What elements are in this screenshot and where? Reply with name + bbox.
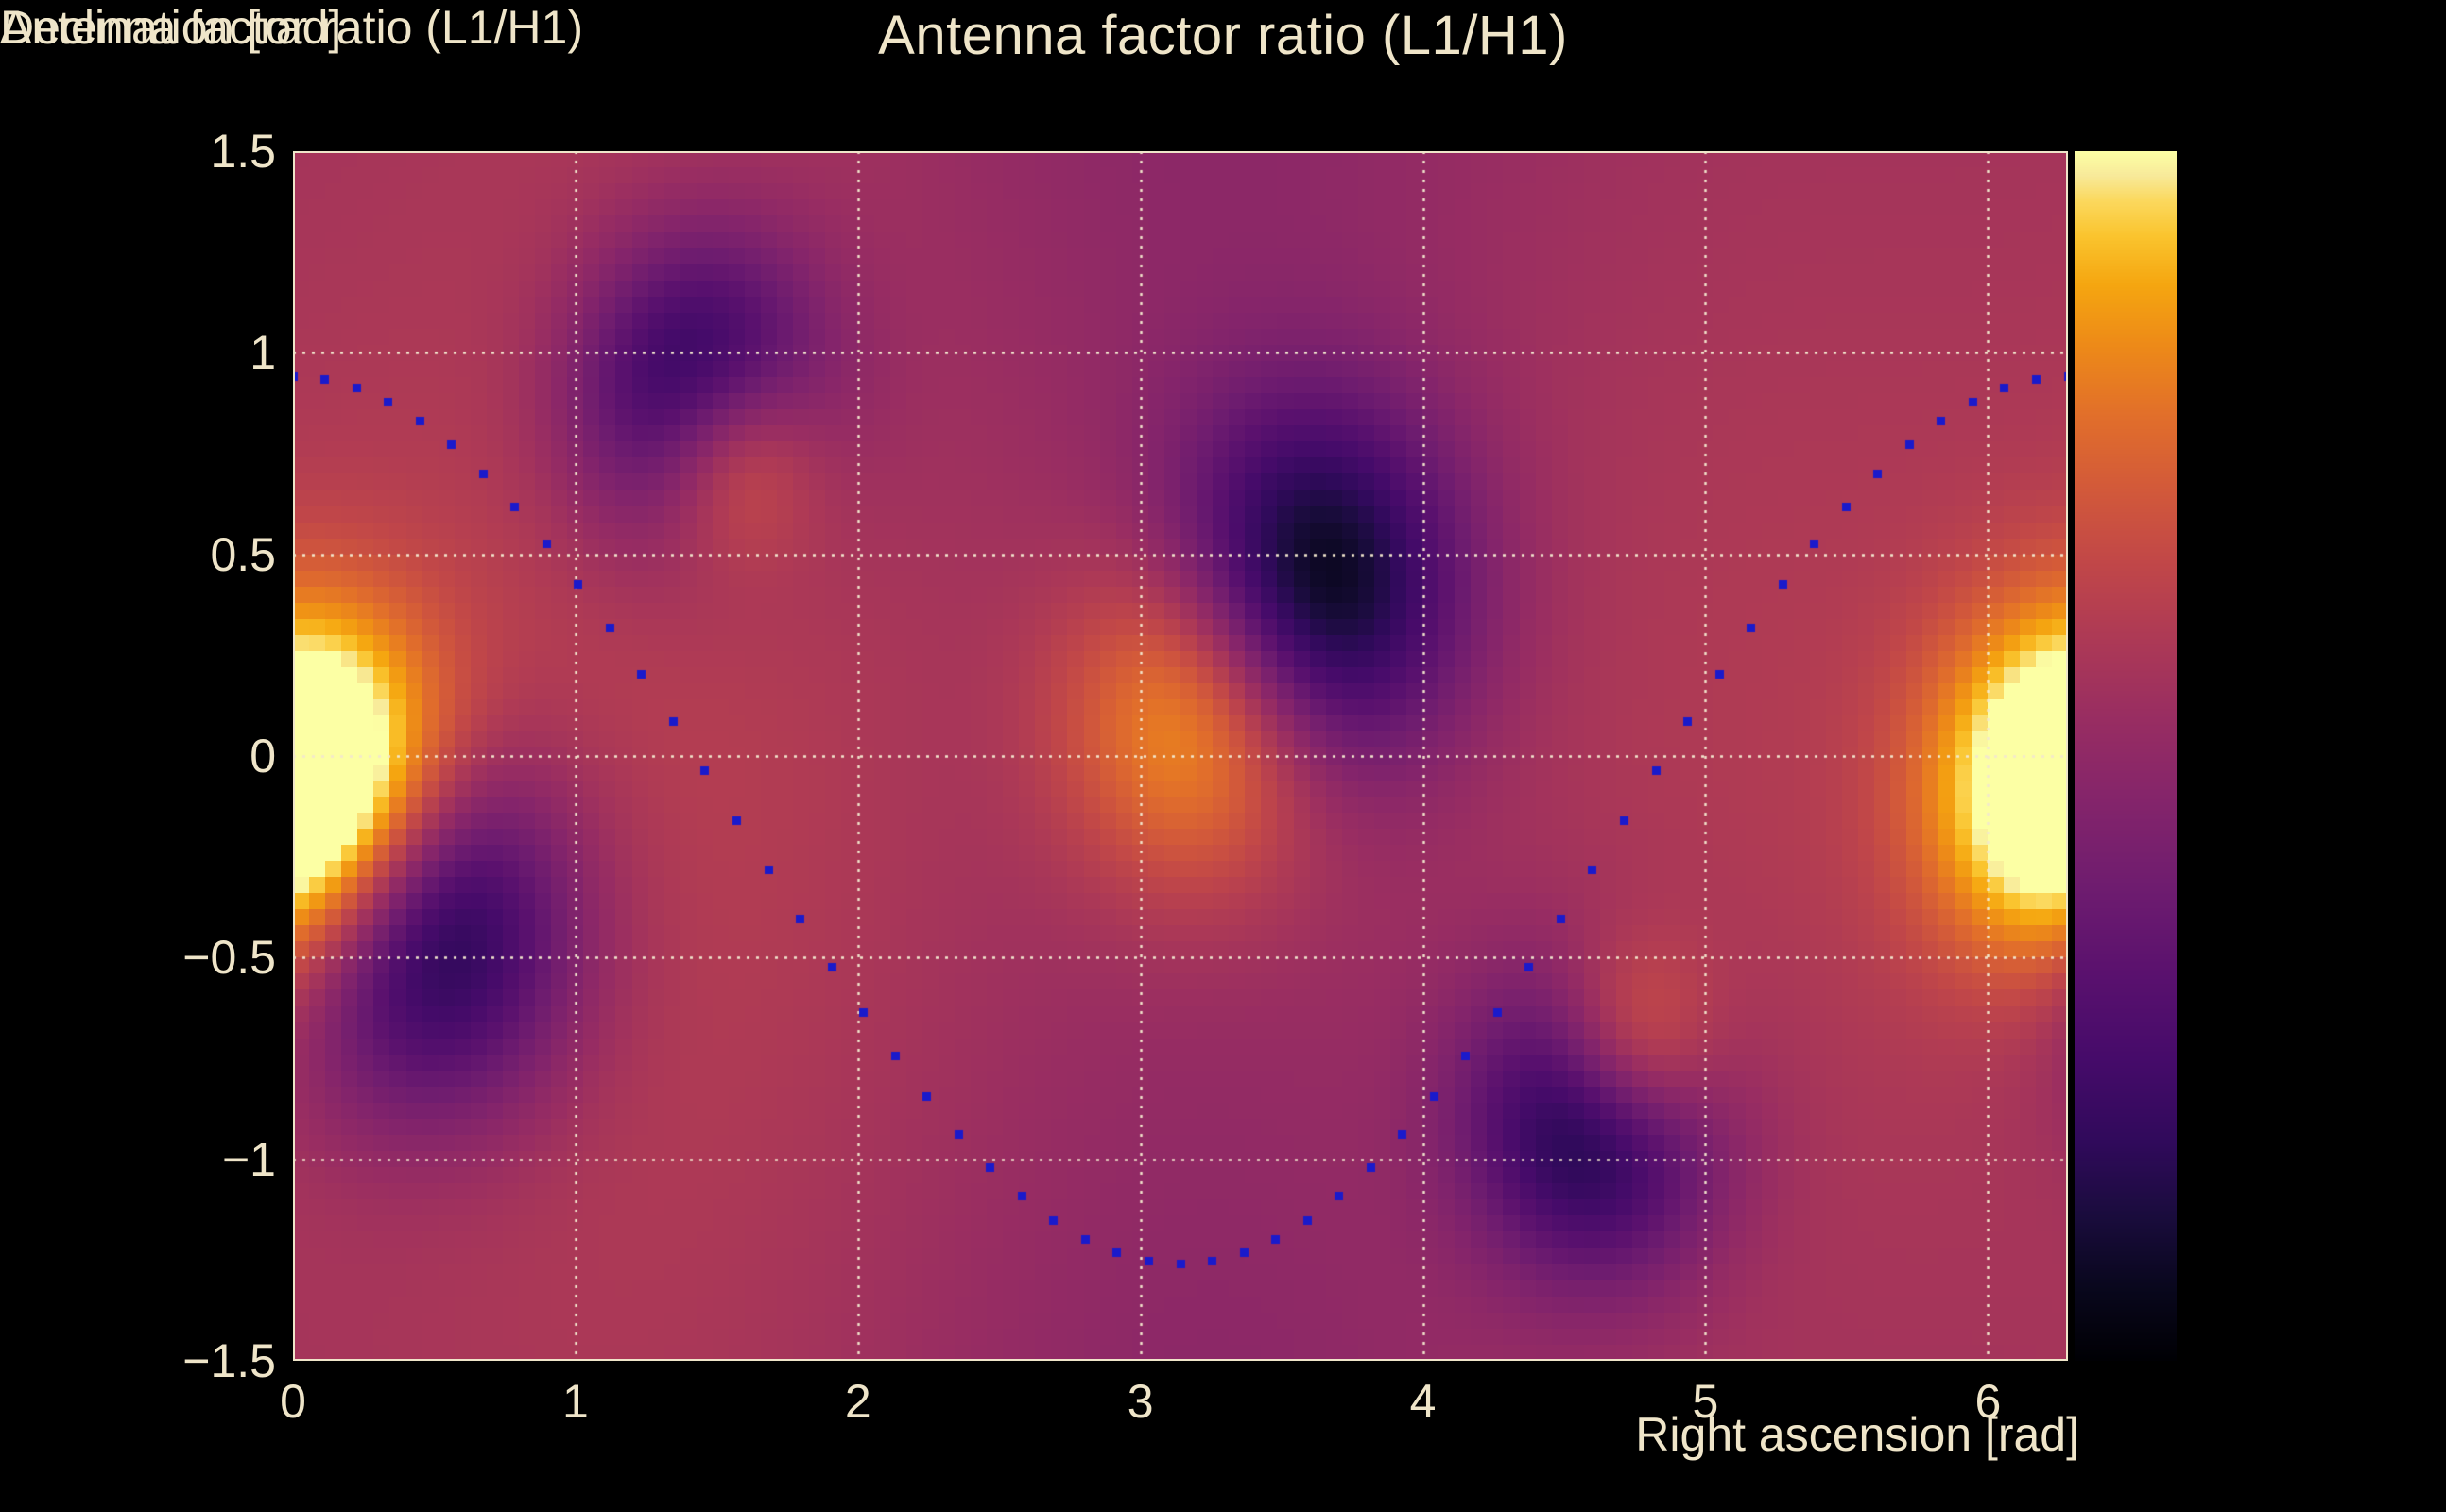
x-tick-label: 1 xyxy=(562,1374,589,1429)
y-tick-label: −1.5 xyxy=(182,1333,276,1388)
figure-canvas: Antenna factor ratio (L1/H1) 0123456 −1.… xyxy=(0,0,2446,1512)
y-tick-label: 0 xyxy=(250,729,276,783)
x-tick-label: 2 xyxy=(845,1374,871,1429)
x-tick-label: 3 xyxy=(1128,1374,1154,1429)
x-tick-label: 0 xyxy=(280,1374,306,1429)
y-tick-label: 0.5 xyxy=(210,527,276,582)
y-tick-label: −1 xyxy=(222,1132,276,1187)
y-tick-label: −0.5 xyxy=(182,930,276,985)
y-tick-label: 1.5 xyxy=(210,124,276,179)
colorbar-title: Antenna factor ratio (L1/H1) xyxy=(0,0,583,55)
heatmap-plot-area xyxy=(293,151,2068,1361)
x-axis-title: Right ascension [rad] xyxy=(1635,1407,2079,1462)
x-tick-label: 4 xyxy=(1410,1374,1437,1429)
colorbar-gradient xyxy=(2075,151,2177,1361)
galactic-plane-curve xyxy=(293,151,2068,1361)
y-tick-label: 1 xyxy=(250,325,276,380)
